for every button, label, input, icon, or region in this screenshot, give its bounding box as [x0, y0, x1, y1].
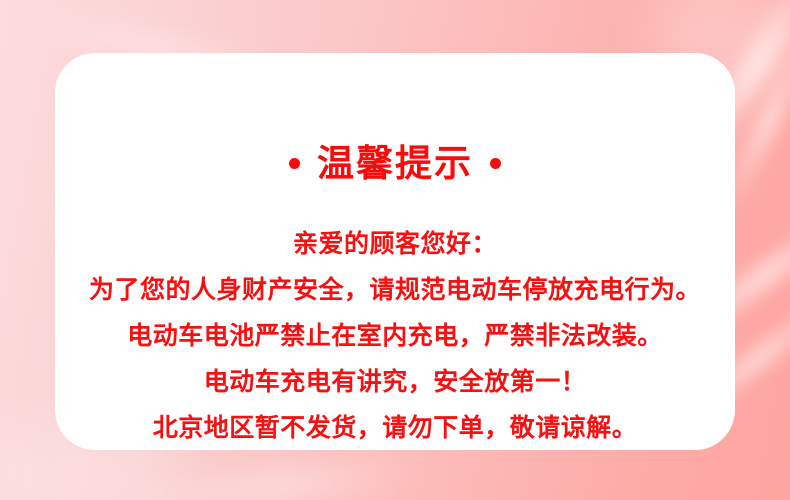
notice-card: 温馨提示 亲爱的顾客您好： 为了您的人身财产安全，请规范电动车停放充电行为。 电…	[55, 53, 735, 450]
title-left-dot-icon	[289, 158, 300, 169]
notice-line-indoor-charging: 电动车电池严禁止在室内充电，严禁非法改装。	[55, 313, 735, 359]
notice-body: 亲爱的顾客您好： 为了您的人身财产安全，请规范电动车停放充电行为。 电动车电池严…	[55, 221, 735, 451]
notice-line-greeting: 亲爱的顾客您好：	[55, 221, 735, 267]
notice-title-row: 温馨提示	[55, 145, 735, 182]
title-right-dot-icon	[490, 158, 501, 169]
notice-line-beijing-shipping: 北京地区暂不发货，请勿下单，敬请谅解。	[55, 405, 735, 451]
page-title: 温馨提示	[317, 145, 473, 182]
notice-line-safety-first: 电动车充电有讲究，安全放第一！	[55, 359, 735, 405]
background-streak	[119, 454, 421, 500]
notice-banner: 温馨提示 亲爱的顾客您好： 为了您的人身财产安全，请规范电动车停放充电行为。 电…	[0, 0, 790, 500]
notice-line-safety: 为了您的人身财产安全，请规范电动车停放充电行为。	[55, 267, 735, 313]
